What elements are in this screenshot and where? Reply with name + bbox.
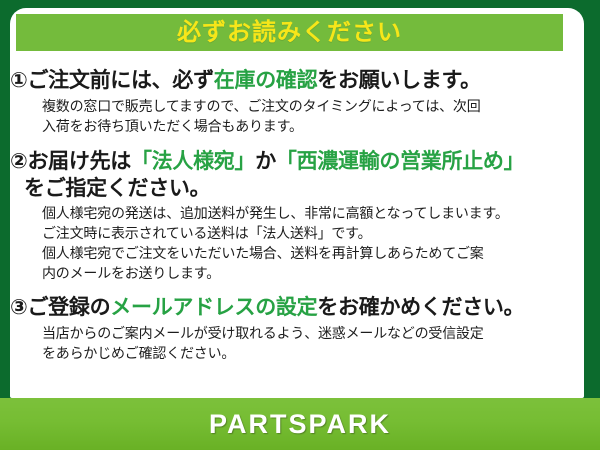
notice-item-2-subline-1: 個人様宅宛の発送は、追加送料が発生し、非常に高額となってしまいます。 [42, 204, 564, 224]
notice-item-2: ②お届け先は「法人様宛」か「西濃運輸の営業所止め」 をご指定ください。 個人様宅… [10, 149, 564, 284]
notice-item-2-text-mid: か [255, 150, 276, 173]
notice-item-1-subline-2: 入荷をお待ち頂いただく場合もあります。 [42, 117, 564, 137]
notice-item-2-marker: ② [10, 150, 27, 173]
notice-item-2-highlight-2: 「西濃運輸の営業所止め」 [276, 150, 524, 173]
notice-item-3-marker: ③ [10, 296, 27, 319]
notice-item-1-highlight: 在庫の確認 [214, 69, 318, 92]
notice-item-1-heading: ①ご注文前には、必ず在庫の確認をお願いします。 [10, 68, 564, 95]
notice-item-2-subtext: 個人様宅宛の発送は、追加送料が発生し、非常に高額となってしまいます。 ご注文時に… [10, 202, 564, 284]
notice-item-2-heading-line2: をご指定ください。 [10, 176, 564, 203]
page-title: 必ずお読みください [177, 21, 402, 45]
notice-card: 必ずお読みください ①ご注文前には、必ず在庫の確認をお願いします。 複数の窓口で… [0, 0, 600, 450]
notice-item-1-subtext: 複数の窓口で販売してますので、ご注文のタイミングによっては、次回 入荷をお待ち頂… [10, 95, 564, 137]
notice-item-2-text-line2: をご指定ください。 [10, 176, 210, 203]
notice-item-1-text-before: ご注文前には、必ず [27, 69, 213, 92]
notice-item-1: ①ご注文前には、必ず在庫の確認をお願いします。 複数の窓口で販売してますので、ご… [10, 68, 564, 137]
notice-item-2-highlight-1: 「法人様宛」 [131, 150, 255, 173]
notice-item-3-subline-2: をあらかじめご確認ください。 [42, 344, 564, 364]
notice-footer: PARTSPARK [0, 398, 600, 450]
notice-item-2-subline-3: 個人様宅宛でご注文をいただいた場合、送料を再計算しあらためてご案 [42, 244, 564, 264]
notice-item-3-subtext: 当店からのご案内メールが受け取れるよう、迷惑メールなどの受信設定 をあらかじめご… [10, 322, 564, 364]
notice-item-3-highlight: メールアドレスの設定 [110, 296, 317, 319]
notice-item-3-text-after: をお確かめください。 [317, 296, 524, 319]
notice-title-bar: 必ずお読みください [16, 14, 563, 51]
notice-item-1-marker: ① [10, 69, 27, 92]
notice-item-3-text-before: ご登録の [27, 296, 110, 319]
notice-item-1-subline-1: 複数の窓口で販売してますので、ご注文のタイミングによっては、次回 [42, 97, 564, 117]
notice-item-2-text-before: お届け先は [27, 150, 131, 173]
notice-items: ①ご注文前には、必ず在庫の確認をお願いします。 複数の窓口で販売してますので、ご… [10, 58, 564, 366]
notice-item-3: ③ご登録のメールアドレスの設定をお確かめください。 当店からのご案内メールが受け… [10, 295, 564, 364]
notice-item-1-text-after: をお願いします。 [317, 69, 481, 92]
notice-item-2-subline-2: ご注文時に表示されている送料は「法人送料」です。 [42, 224, 564, 244]
notice-item-2-subline-4: 内のメールをお送りします。 [42, 264, 564, 284]
notice-item-2-heading: ②お届け先は「法人様宛」か「西濃運輸の営業所止め」 [10, 149, 564, 176]
brand-logo-text: PARTSPARK [209, 411, 391, 438]
notice-item-3-subline-1: 当店からのご案内メールが受け取れるよう、迷惑メールなどの受信設定 [42, 324, 564, 344]
notice-item-3-heading: ③ご登録のメールアドレスの設定をお確かめください。 [10, 295, 564, 322]
